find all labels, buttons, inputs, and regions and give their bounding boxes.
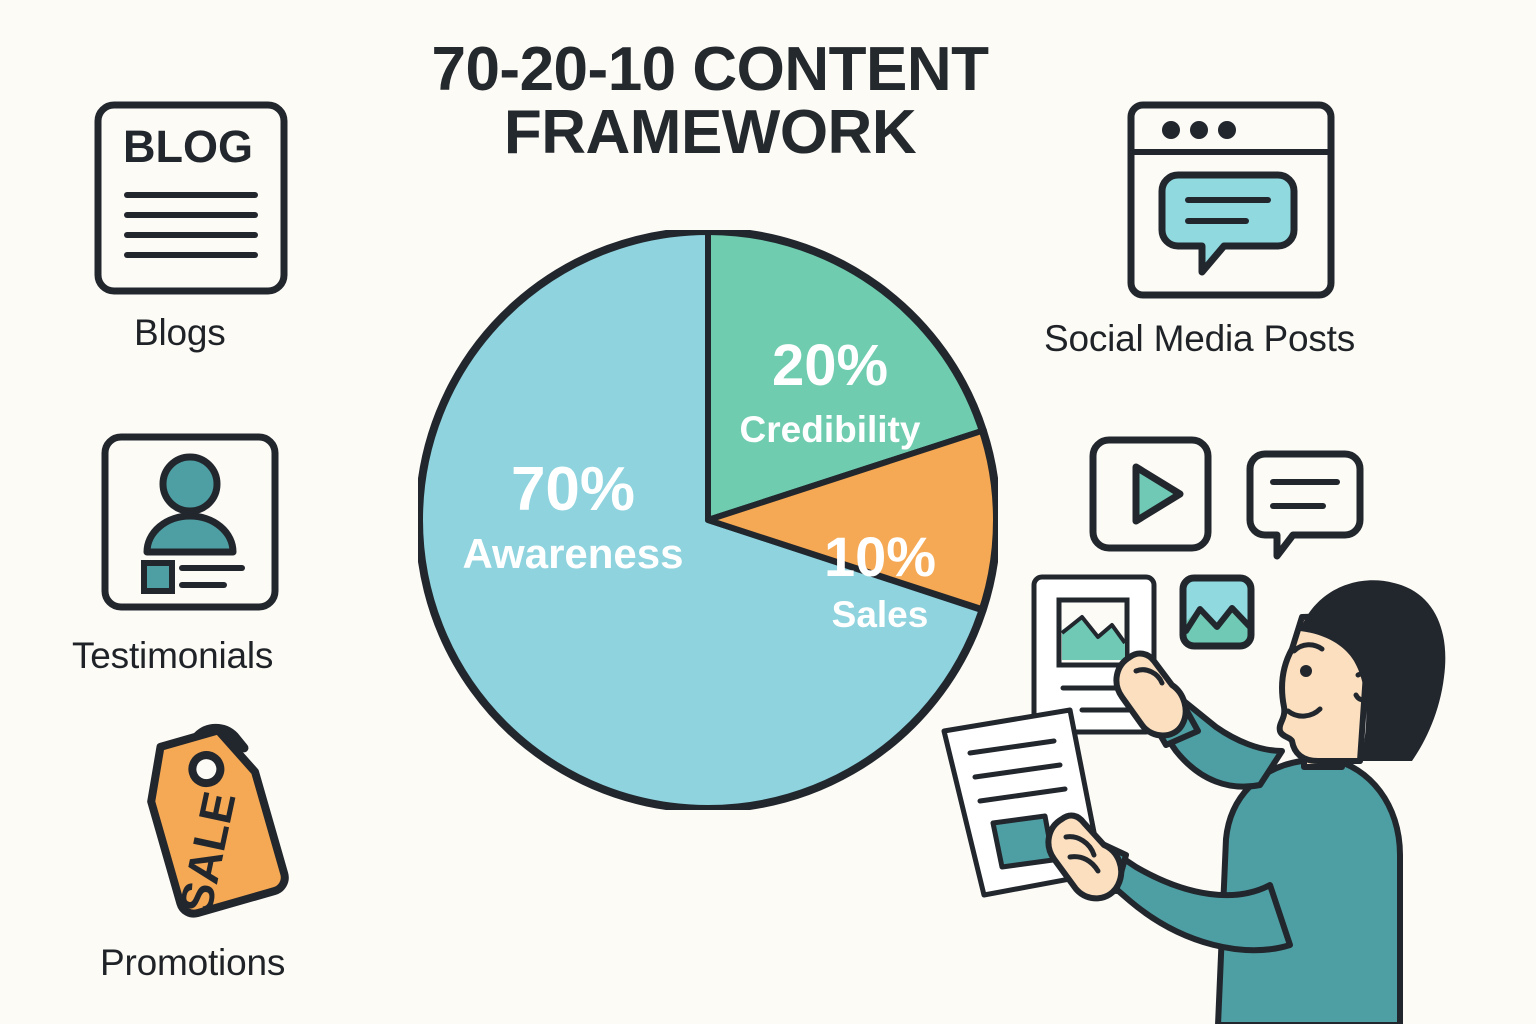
social-media-posts-label: Social Media Posts bbox=[1044, 318, 1355, 360]
slice-name-sales: Sales bbox=[832, 594, 929, 635]
title-line-1: 70-20-10 CONTENT bbox=[330, 38, 1090, 101]
page-title: 70-20-10 CONTENT FRAMEWORK bbox=[330, 38, 1090, 164]
play-button-icon[interactable] bbox=[1088, 435, 1213, 558]
infographic-canvas: 70-20-10 CONTENT FRAMEWORK 70% Awareness… bbox=[0, 0, 1536, 1024]
sale-tag-icon[interactable]: SALE bbox=[120, 708, 300, 928]
blogs-label: Blogs bbox=[134, 312, 226, 354]
browser-dot bbox=[1162, 121, 1180, 139]
browser-dot bbox=[1190, 121, 1208, 139]
testimonial-thumb bbox=[144, 563, 172, 591]
tag-hole bbox=[189, 752, 224, 787]
avatar-head bbox=[163, 457, 217, 511]
testimonial-card-icon[interactable] bbox=[100, 432, 280, 617]
person-reviewing-documents-illustration bbox=[930, 555, 1450, 1024]
promotions-label: Promotions bbox=[100, 942, 285, 984]
speech-bubble-icon[interactable] bbox=[1245, 448, 1365, 568]
person-eye bbox=[1300, 665, 1312, 677]
slice-name-awareness: Awareness bbox=[462, 530, 683, 577]
slice-value-sales: 10% bbox=[824, 525, 936, 588]
text-document-image-block bbox=[993, 816, 1053, 867]
slice-value-credibility: 20% bbox=[772, 333, 888, 398]
slice-name-credibility: Credibility bbox=[740, 409, 921, 450]
browser-dot bbox=[1218, 121, 1236, 139]
testimonials-label: Testimonials bbox=[72, 635, 273, 677]
blog-icon-text: BLOG bbox=[123, 121, 253, 172]
browser-chat-window-icon[interactable] bbox=[1126, 100, 1336, 305]
blog-document-icon[interactable]: BLOG bbox=[93, 100, 289, 301]
slice-value-awareness: 70% bbox=[511, 455, 635, 524]
pie-chart: 70% Awareness 20% Credibility 10% Sales bbox=[418, 230, 998, 810]
title-line-2: FRAMEWORK bbox=[330, 101, 1090, 164]
